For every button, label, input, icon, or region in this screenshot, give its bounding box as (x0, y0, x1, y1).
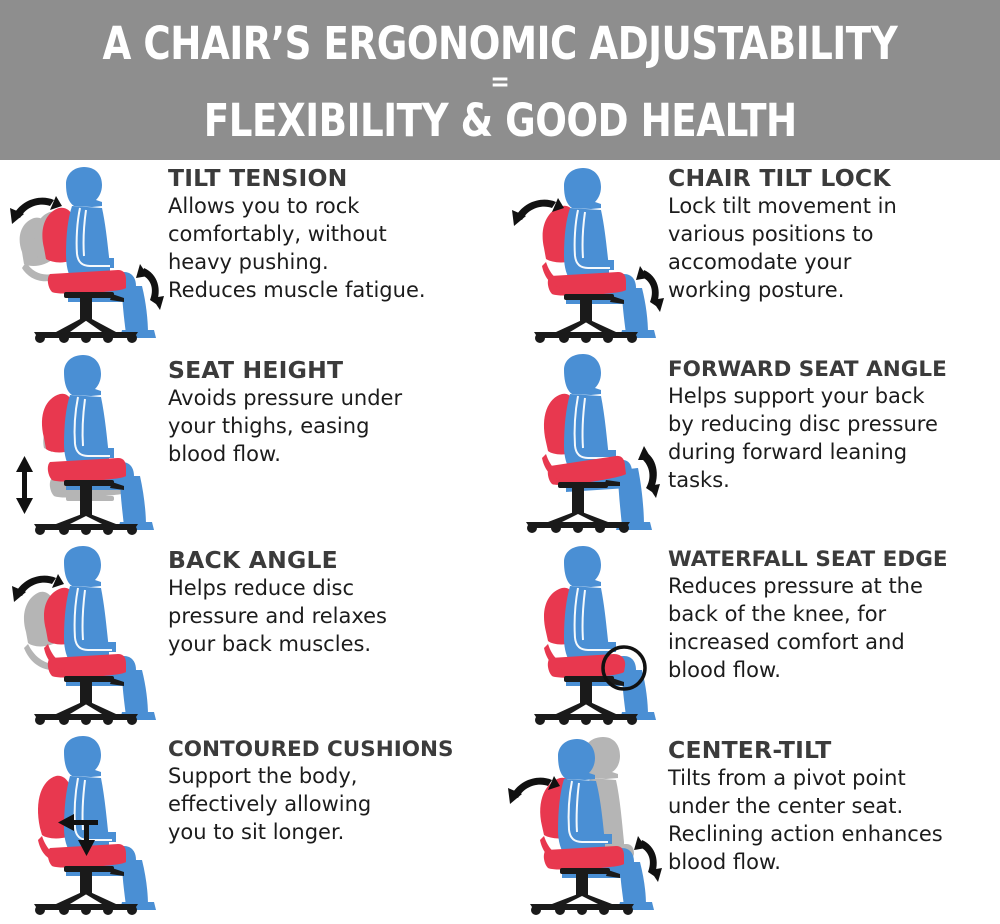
illustration-forward-seat-angle (506, 354, 668, 536)
feature-text-tilt-tension: TILT TENSION Allows you to rock comforta… (168, 160, 500, 305)
chair-base (534, 676, 638, 725)
illustration-seat-height (6, 354, 168, 536)
infographic-root: A CHAIR’S ERGONOMIC ADJUSTABILITY = FLEX… (0, 0, 1000, 924)
person-silhouette (64, 546, 156, 720)
seat-red (48, 458, 126, 482)
feature-back-angle: BACK ANGLE Helps reduce disc pressure an… (0, 542, 500, 732)
illustration-tilt-tension (6, 162, 168, 344)
feature-title: SEAT HEIGHT (168, 358, 490, 383)
illustration-contoured-cushions (6, 734, 168, 916)
feature-text-back-angle: BACK ANGLE Helps reduce disc pressure an… (168, 542, 500, 659)
feature-title: TILT TENSION (168, 166, 490, 191)
header-banner: A CHAIR’S ERGONOMIC ADJUSTABILITY = FLEX… (0, 0, 1000, 160)
person-silhouette (564, 546, 656, 720)
feature-text-waterfall-seat-edge: WATERFALL SEAT EDGE Reduces pressure at … (668, 542, 1000, 685)
header-equals-sign: = (490, 69, 510, 95)
feature-description: Reduces pressure at the back of the knee… (668, 573, 996, 685)
feature-contoured-cushions: CONTOURED CUSHIONS Support the body, eff… (0, 732, 500, 924)
feature-tilt-tension: TILT TENSION Allows you to rock comforta… (0, 160, 500, 352)
feature-text-chair-tilt-lock: CHAIR TILT LOCK Lock tilt movement in va… (668, 160, 1000, 305)
feature-text-forward-seat-angle: FORWARD SEAT ANGLE Helps support your ba… (668, 352, 1000, 495)
feature-text-contoured-cushions: CONTOURED CUSHIONS Support the body, eff… (168, 732, 500, 847)
feature-title: FORWARD SEAT ANGLE (668, 358, 996, 381)
person-silhouette (66, 167, 156, 338)
feature-forward-seat-angle: FORWARD SEAT ANGLE Helps support your ba… (500, 352, 1000, 542)
feature-title: CONTOURED CUSHIONS (168, 738, 490, 761)
person-silhouette (64, 355, 154, 530)
feature-title: CENTER-TILT (668, 738, 996, 763)
feature-center-tilt: CENTER-TILT Tilts from a pivot point und… (500, 732, 1000, 924)
feature-description: Support the body, effectively allowing y… (168, 763, 490, 847)
feature-seat-height: SEAT HEIGHT Avoids pressure under your t… (0, 352, 500, 542)
feature-description: Lock tilt movement in various positions … (668, 193, 996, 305)
feature-description: Avoids pressure under your thighs, easin… (168, 385, 490, 469)
chair-base (34, 292, 138, 343)
chair-base (34, 866, 138, 915)
feature-title: BACK ANGLE (168, 548, 490, 573)
chair-base (34, 676, 138, 725)
feature-chair-tilt-lock: CHAIR TILT LOCK Lock tilt movement in va… (500, 160, 1000, 352)
illustration-chair-tilt-lock (506, 162, 668, 344)
chair-base (530, 868, 634, 915)
person-silhouette (564, 168, 656, 338)
feature-waterfall-seat-edge: WATERFALL SEAT EDGE Reduces pressure at … (500, 542, 1000, 732)
feature-title: WATERFALL SEAT EDGE (668, 548, 996, 571)
feature-text-seat-height: SEAT HEIGHT Avoids pressure under your t… (168, 352, 500, 469)
seat-red (48, 270, 126, 294)
arrow-up-down-icon (16, 456, 33, 514)
illustration-waterfall-seat-edge (506, 544, 668, 726)
header-title-line2: FLEXIBILITY & GOOD HEALTH (204, 97, 797, 144)
header-title-line1: A CHAIR’S ERGONOMIC ADJUSTABILITY (103, 20, 898, 67)
features-grid: TILT TENSION Allows you to rock comforta… (0, 160, 1000, 924)
feature-description: Helps support your back by reducing disc… (668, 383, 996, 495)
feature-title: CHAIR TILT LOCK (668, 166, 996, 191)
feature-description: Helps reduce disc pressure and relaxes y… (168, 575, 490, 659)
feature-description: Tilts from a pivot point under the cente… (668, 765, 996, 877)
illustration-center-tilt (506, 734, 668, 916)
feature-text-center-tilt: CENTER-TILT Tilts from a pivot point und… (668, 732, 1000, 877)
illustration-back-angle (6, 544, 168, 726)
feature-description: Allows you to rock comfortably, without … (168, 193, 490, 305)
chair-base (534, 294, 638, 343)
